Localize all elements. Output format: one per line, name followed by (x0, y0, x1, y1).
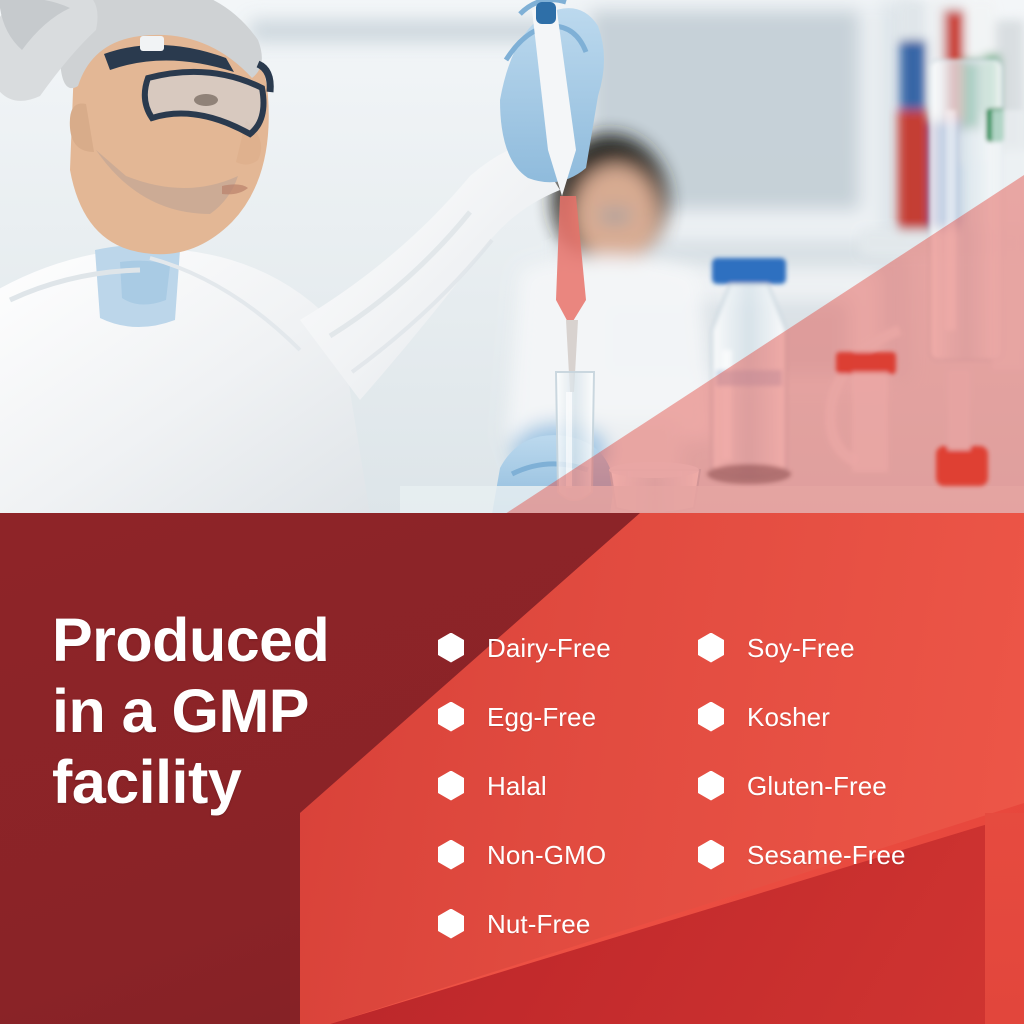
hexagon-bullet-icon (698, 840, 724, 870)
list-item-label: Gluten-Free (747, 771, 887, 801)
list-item-label: Sesame-Free (747, 840, 906, 870)
list-item-label: Halal (487, 771, 547, 801)
list-item-label: Non-GMO (487, 840, 606, 870)
page-title: Produced in a GMP facility (52, 605, 432, 818)
hexagon-bullet-icon (698, 771, 724, 801)
list-item-label: Nut-Free (487, 909, 590, 939)
list-item[interactable]: Nut-Free (438, 889, 698, 958)
panel-content: Produced in a GMP facility Dairy-Free Eg… (0, 513, 1024, 1024)
list-item-label: Egg-Free (487, 702, 596, 732)
hexagon-bullet-icon (438, 633, 464, 663)
list-item[interactable]: Non-GMO (438, 820, 698, 889)
list-item-label: Soy-Free (747, 633, 855, 663)
list-item[interactable]: Soy-Free (698, 613, 956, 682)
lab-photo (0, 0, 1024, 514)
lab-photo-illustration (0, 0, 1024, 514)
certification-column-left: Dairy-Free Egg-Free Halal Non-GMO (438, 613, 698, 958)
hexagon-bullet-icon (438, 702, 464, 732)
list-item-label: Kosher (747, 702, 830, 732)
promo-graphic: Produced in a GMP facility Dairy-Free Eg… (0, 0, 1024, 1024)
list-item[interactable]: Egg-Free (438, 682, 698, 751)
list-item[interactable]: Gluten-Free (698, 751, 956, 820)
red-panel: Produced in a GMP facility Dairy-Free Eg… (0, 513, 1024, 1024)
list-item[interactable]: Dairy-Free (438, 613, 698, 682)
certification-column-right: Soy-Free Kosher Gluten-Free Sesame-Free (698, 613, 956, 958)
hexagon-bullet-icon (438, 840, 464, 870)
list-item[interactable]: Kosher (698, 682, 956, 751)
list-item-label: Dairy-Free (487, 633, 611, 663)
hexagon-bullet-icon (438, 771, 464, 801)
list-item[interactable]: Sesame-Free (698, 820, 956, 889)
hexagon-bullet-icon (438, 909, 464, 939)
certification-columns: Dairy-Free Egg-Free Halal Non-GMO (438, 613, 998, 958)
hexagon-bullet-icon (698, 702, 724, 732)
list-item[interactable]: Halal (438, 751, 698, 820)
hexagon-bullet-icon (698, 633, 724, 663)
